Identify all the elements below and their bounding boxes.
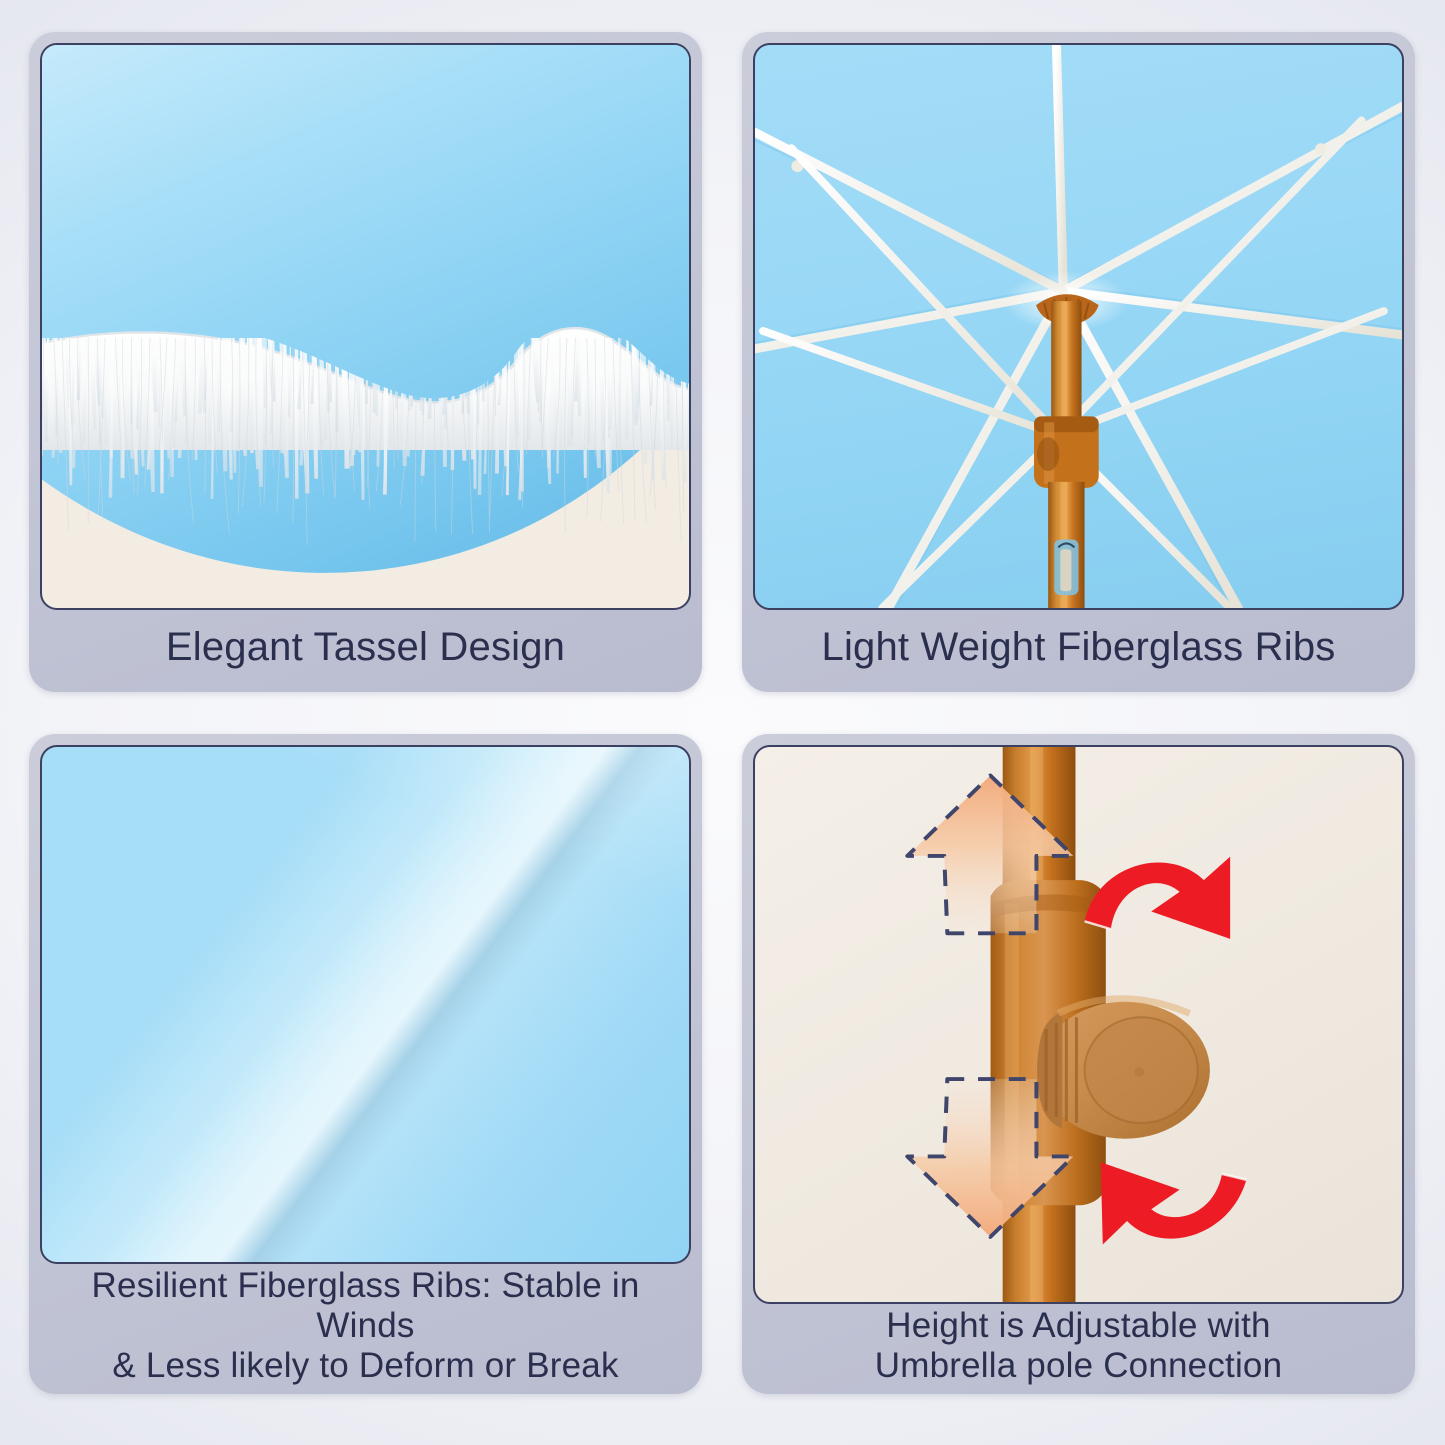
umbrella-frame-icon (755, 45, 1402, 608)
caption-fabric: Resilient Fiberglass Ribs: Stable in Win… (40, 1264, 691, 1394)
photo-ribs (753, 43, 1404, 610)
feature-card-grid: Elegant Tassel Design (0, 0, 1445, 1445)
caption-height-line1: Height is Adjustable with (886, 1306, 1270, 1345)
rotate-arrow-top-icon (1085, 857, 1231, 939)
caption-fabric-line2: & Less likely to Deform or Break (112, 1346, 618, 1385)
caption-height-line2: Umbrella pole Connection (875, 1346, 1283, 1385)
feature-card-height[interactable]: Height is Adjustable with Umbrella pole … (742, 734, 1415, 1394)
tassel-fringe-icon (40, 338, 691, 597)
photo-tassel (40, 43, 691, 610)
feature-card-ribs[interactable]: Light Weight Fiberglass Ribs (742, 32, 1415, 692)
caption-fabric-line1: Resilient Fiberglass Ribs: Stable in Win… (92, 1266, 640, 1345)
pole-latch-icon (1054, 539, 1078, 595)
rotate-arrow-bottom-icon (1101, 1162, 1247, 1244)
caption-ribs: Light Weight Fiberglass Ribs (753, 610, 1404, 692)
feature-card-fabric[interactable]: Resilient Fiberglass Ribs: Stable in Win… (29, 734, 702, 1394)
adjust-knob-icon (755, 747, 1402, 1302)
photo-height (753, 745, 1404, 1304)
infographic-canvas: Elegant Tassel Design (0, 0, 1445, 1445)
caption-tassel: Elegant Tassel Design (40, 610, 691, 692)
photo-fabric (40, 745, 691, 1264)
feature-card-tassel[interactable]: Elegant Tassel Design (29, 32, 702, 692)
caption-height: Height is Adjustable with Umbrella pole … (753, 1304, 1404, 1394)
